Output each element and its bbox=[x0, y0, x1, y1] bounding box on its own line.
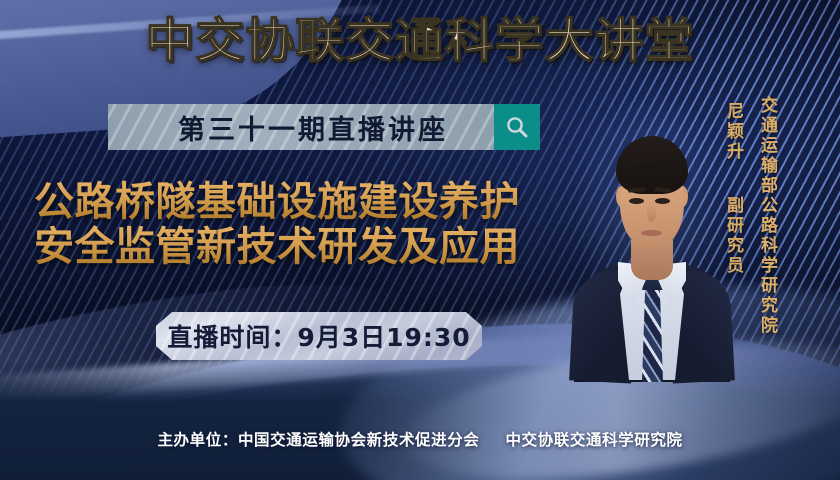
footer-co-organizer: 中交协联交通科学研究院 bbox=[505, 428, 682, 450]
live-lecture-poster: 中交协联交通科学大讲堂 第三十一期直播讲座 公路桥隧基础设施建设养护 安全监管新… bbox=[0, 0, 840, 480]
footer-organizer: 主办单位：中国交通运输协会新技术促进分会 bbox=[157, 428, 479, 450]
session-banner-label: 第三十一期直播讲座 bbox=[108, 108, 494, 147]
broadcast-time-badge: 直播时间：9月3日19:30 bbox=[156, 312, 482, 360]
speaker-job-title: 副研究员 bbox=[724, 196, 741, 276]
portrait-eye-left bbox=[629, 198, 644, 204]
lecture-topic-line-1: 公路桥隧基础设施建设养护 bbox=[34, 180, 520, 225]
footer: 主办单位：中国交通运输协会新技术促进分会 中交协联交通科学研究院 bbox=[0, 424, 840, 454]
broadcast-time-text: 直播时间：9月3日19:30 bbox=[167, 318, 470, 354]
speaker-portrait bbox=[568, 78, 736, 378]
portrait-mouth bbox=[641, 230, 662, 236]
session-banner: 第三十一期直播讲座 bbox=[108, 104, 540, 150]
lecture-topic-line-2: 安全监管新技术研发及应用 bbox=[34, 225, 520, 270]
speaker-name: 尼颖升 bbox=[724, 102, 741, 162]
page-title: 中交协联交通科学大讲堂 bbox=[145, 18, 694, 65]
portrait-nose bbox=[647, 206, 656, 222]
portrait-hair-fringe bbox=[620, 164, 684, 184]
search-icon[interactable] bbox=[494, 104, 540, 150]
speaker-organization: 交通运输部公路科学研究院 bbox=[758, 96, 775, 336]
portrait-eye-right bbox=[655, 198, 670, 204]
poster-title-container: 中交协联交通科学大讲堂 bbox=[0, 18, 840, 65]
lecture-topic: 公路桥隧基础设施建设养护 安全监管新技术研发及应用 bbox=[34, 180, 520, 270]
